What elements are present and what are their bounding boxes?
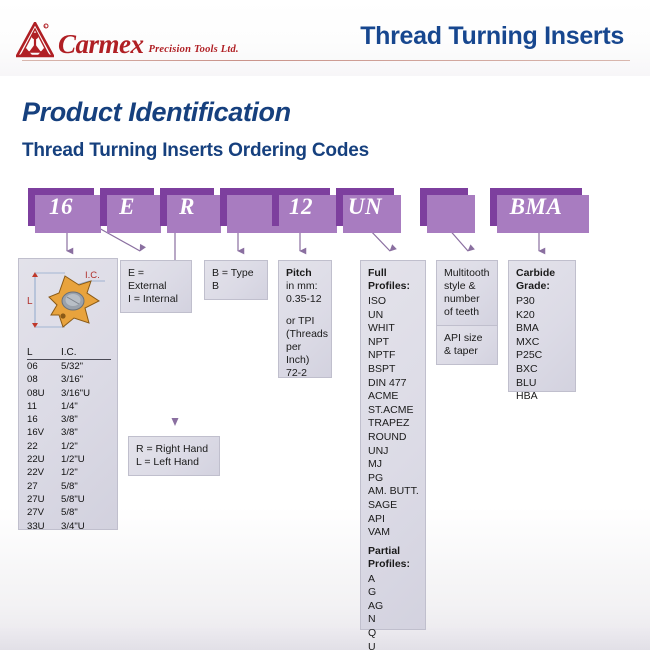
list-item: BXC (516, 363, 568, 377)
cell-l: 22U (27, 453, 61, 466)
partial-profiles-list: AGAGNQU (368, 573, 418, 655)
code-box-label: 12 (289, 194, 313, 220)
page-title: Thread Turning Inserts (360, 22, 624, 51)
list-item: K20 (516, 309, 568, 323)
dimension-rows: 065/32"083/16"08U3/16"U111/4"163/8"16V3/… (27, 360, 111, 533)
svg-text:I.C.: I.C. (85, 270, 100, 281)
cell-l: 08 (27, 373, 61, 386)
cell-l: 08U (27, 387, 61, 400)
column-header-l: L (27, 347, 61, 358)
list-item: U (368, 641, 418, 655)
panel-type-b: B = Type B (204, 260, 268, 300)
list-item: DIN 477 (368, 377, 418, 391)
panel-title-partial-2: Profiles: (368, 558, 410, 570)
cell-ic: 3/4"U (61, 520, 111, 533)
dimension-table: L I.C. 065/32"083/16"08U3/16"U111/4"163/… (27, 347, 111, 533)
section-subtitle: Thread Turning Inserts Ordering Codes (22, 140, 369, 162)
code-box-label: E (119, 194, 135, 220)
panel-profiles: Full Profiles: ISOUNWHITNPTNPTFBSPTDIN 4… (360, 260, 426, 630)
insert-dimension-panel: L I.C. L I.C. 065/32"083/16"08U3/16"U111… (18, 258, 118, 530)
table-row: 221/2" (27, 440, 111, 453)
brand-name: Carmex (58, 30, 144, 58)
panel-title-carbide-1: Carbide (516, 267, 555, 279)
panel-hand-direction: R = Right Hand L = Left Hand (128, 436, 220, 476)
code-box-external-internal[interactable]: E (100, 188, 154, 226)
panel-line: per Inch) (286, 341, 324, 367)
cell-ic: 3/8" (61, 426, 111, 439)
panel-carbide-grade: Carbide Grade: P30K20BMAMXCP25CBXCBLUHBA (508, 260, 576, 392)
cell-ic: 5/8" (61, 480, 111, 493)
table-row: 27U5/8"U (27, 493, 111, 506)
page-header: R Carmex Precision Tools Ltd. Thread Tur… (0, 0, 650, 76)
table-row: 08U3/16"U (27, 387, 111, 400)
panel-line: API size (444, 332, 490, 345)
cell-ic: 3/16" (61, 373, 111, 386)
cell-ic: 1/2" (61, 466, 111, 479)
insert-diagram-icon: L I.C. (19, 263, 117, 341)
cell-ic: 3/8" (61, 413, 111, 426)
panel-line: 0.35-12 (286, 293, 324, 306)
cell-ic: 5/8" (61, 506, 111, 519)
panel-line: in mm: (286, 280, 324, 293)
code-box-type[interactable] (220, 188, 274, 226)
panel-line: E = External (128, 267, 184, 293)
panel-line: or TPI (286, 315, 324, 328)
panel-line: B = Type B (212, 267, 260, 293)
list-item: N (368, 613, 418, 627)
table-row: 33U3/4"U (27, 520, 111, 533)
list-item: NPTF (368, 349, 418, 363)
list-item: BSPT (368, 363, 418, 377)
panel-line: Multitooth (444, 267, 490, 280)
cell-l: 16V (27, 426, 61, 439)
cell-ic: 5/32" (61, 360, 111, 373)
brand-tagline: Precision Tools Ltd. (149, 44, 239, 58)
panel-api-size: API size & taper (436, 325, 498, 365)
list-item: BMA (516, 322, 568, 336)
panel-line: 72-2 (286, 367, 324, 380)
cell-l: 11 (27, 400, 61, 413)
panel-line: (Threads (286, 328, 324, 341)
table-row: 275/8" (27, 480, 111, 493)
code-box-label: R (179, 194, 195, 220)
cell-l: 22V (27, 466, 61, 479)
list-item: AM. BUTT. (368, 485, 418, 499)
list-item: TRAPEZ (368, 417, 418, 431)
list-item: UNJ (368, 445, 418, 459)
list-item: ROUND (368, 431, 418, 445)
list-item: ISO (368, 295, 418, 309)
list-item: HBA (516, 390, 568, 404)
code-box-hand[interactable]: R (160, 188, 214, 226)
header-divider (22, 60, 630, 61)
table-row: 16V3/8" (27, 426, 111, 439)
svg-text:R: R (44, 25, 46, 29)
cell-l: 27V (27, 506, 61, 519)
list-item: AG (368, 600, 418, 614)
carmex-triangle-logo-icon: R (16, 22, 54, 58)
table-row: 22V1/2" (27, 466, 111, 479)
panel-line: number (444, 293, 490, 306)
section-title: Product Identification (22, 97, 291, 128)
cell-ic: 3/16"U (61, 387, 111, 400)
list-item: WHIT (368, 322, 418, 336)
cell-l: 16 (27, 413, 61, 426)
panel-title-partial-1: Partial (368, 545, 400, 557)
panel-title-carbide-2: Grade: (516, 280, 550, 292)
list-item: VAM (368, 526, 418, 540)
panel-title: Pitch (286, 267, 312, 279)
list-item: ST.ACME (368, 404, 418, 418)
panel-line: R = Right Hand (136, 443, 212, 456)
table-row: 27V5/8" (27, 506, 111, 519)
list-item: ACME (368, 390, 418, 404)
svg-text:L: L (27, 296, 33, 307)
panel-line: of teeth (444, 306, 490, 319)
list-item: API (368, 513, 418, 527)
column-header-ic: I.C. (61, 347, 111, 358)
panel-multitooth: Multitooth style & number of teeth (436, 260, 498, 326)
code-box-label: 16 (49, 194, 73, 220)
code-box-multitooth[interactable] (420, 188, 468, 226)
list-item: NPT (368, 336, 418, 350)
panel-line: style & (444, 280, 490, 293)
code-box-label: BMA (510, 194, 563, 220)
cell-ic: 5/8"U (61, 493, 111, 506)
list-item: MJ (368, 458, 418, 472)
panel-line: I = Internal (128, 293, 184, 306)
brand-logo: R Carmex Precision Tools Ltd. (16, 22, 239, 58)
cell-l: 27U (27, 493, 61, 506)
table-header-row: L I.C. (27, 347, 111, 360)
list-item: Q (368, 627, 418, 641)
panel-line: L = Left Hand (136, 456, 212, 469)
cell-l: 06 (27, 360, 61, 373)
panel-title-full-2: Profiles: (368, 280, 410, 292)
code-box-shadow (427, 195, 475, 233)
list-item: MXC (516, 336, 568, 350)
panel-title-full-1: Full (368, 267, 387, 279)
footer-band (0, 628, 650, 650)
list-item: BLU (516, 377, 568, 391)
cell-l: 22 (27, 440, 61, 453)
panel-pitch: Pitch in mm: 0.35-12 or TPI (Threads per… (278, 260, 332, 378)
table-row: 083/16" (27, 373, 111, 386)
cell-l: 33U (27, 520, 61, 533)
list-item: A (368, 573, 418, 587)
table-row: 065/32" (27, 360, 111, 373)
table-row: 22U1/2"U (27, 453, 111, 466)
code-box-carbide-grade[interactable]: BMA (490, 188, 582, 226)
cell-ic: 1/2" (61, 440, 111, 453)
page-root: R Carmex Precision Tools Ltd. Thread Tur… (0, 0, 650, 650)
table-row: 111/4" (27, 400, 111, 413)
list-item: SAGE (368, 499, 418, 513)
full-profiles-list: ISOUNWHITNPTNPTFBSPTDIN 477ACMEST.ACMETR… (368, 295, 418, 540)
panel-line: & taper (444, 345, 490, 358)
cell-ic: 1/2"U (61, 453, 111, 466)
code-box-label: UN (348, 194, 382, 220)
list-item: UN (368, 309, 418, 323)
list-item: PG (368, 472, 418, 486)
list-item: P25C (516, 349, 568, 363)
code-box-pitch[interactable]: 12 (272, 188, 330, 226)
panel-external-internal: E = External I = Internal (120, 260, 192, 313)
carbide-grade-list: P30K20BMAMXCP25CBXCBLUHBA (516, 295, 568, 404)
cell-ic: 1/4" (61, 400, 111, 413)
code-box-length[interactable]: 16 (28, 188, 94, 226)
code-box-profile[interactable]: UN (336, 188, 394, 226)
table-row: 163/8" (27, 413, 111, 426)
cell-l: 27 (27, 480, 61, 493)
list-item: P30 (516, 295, 568, 309)
list-item: G (368, 586, 418, 600)
